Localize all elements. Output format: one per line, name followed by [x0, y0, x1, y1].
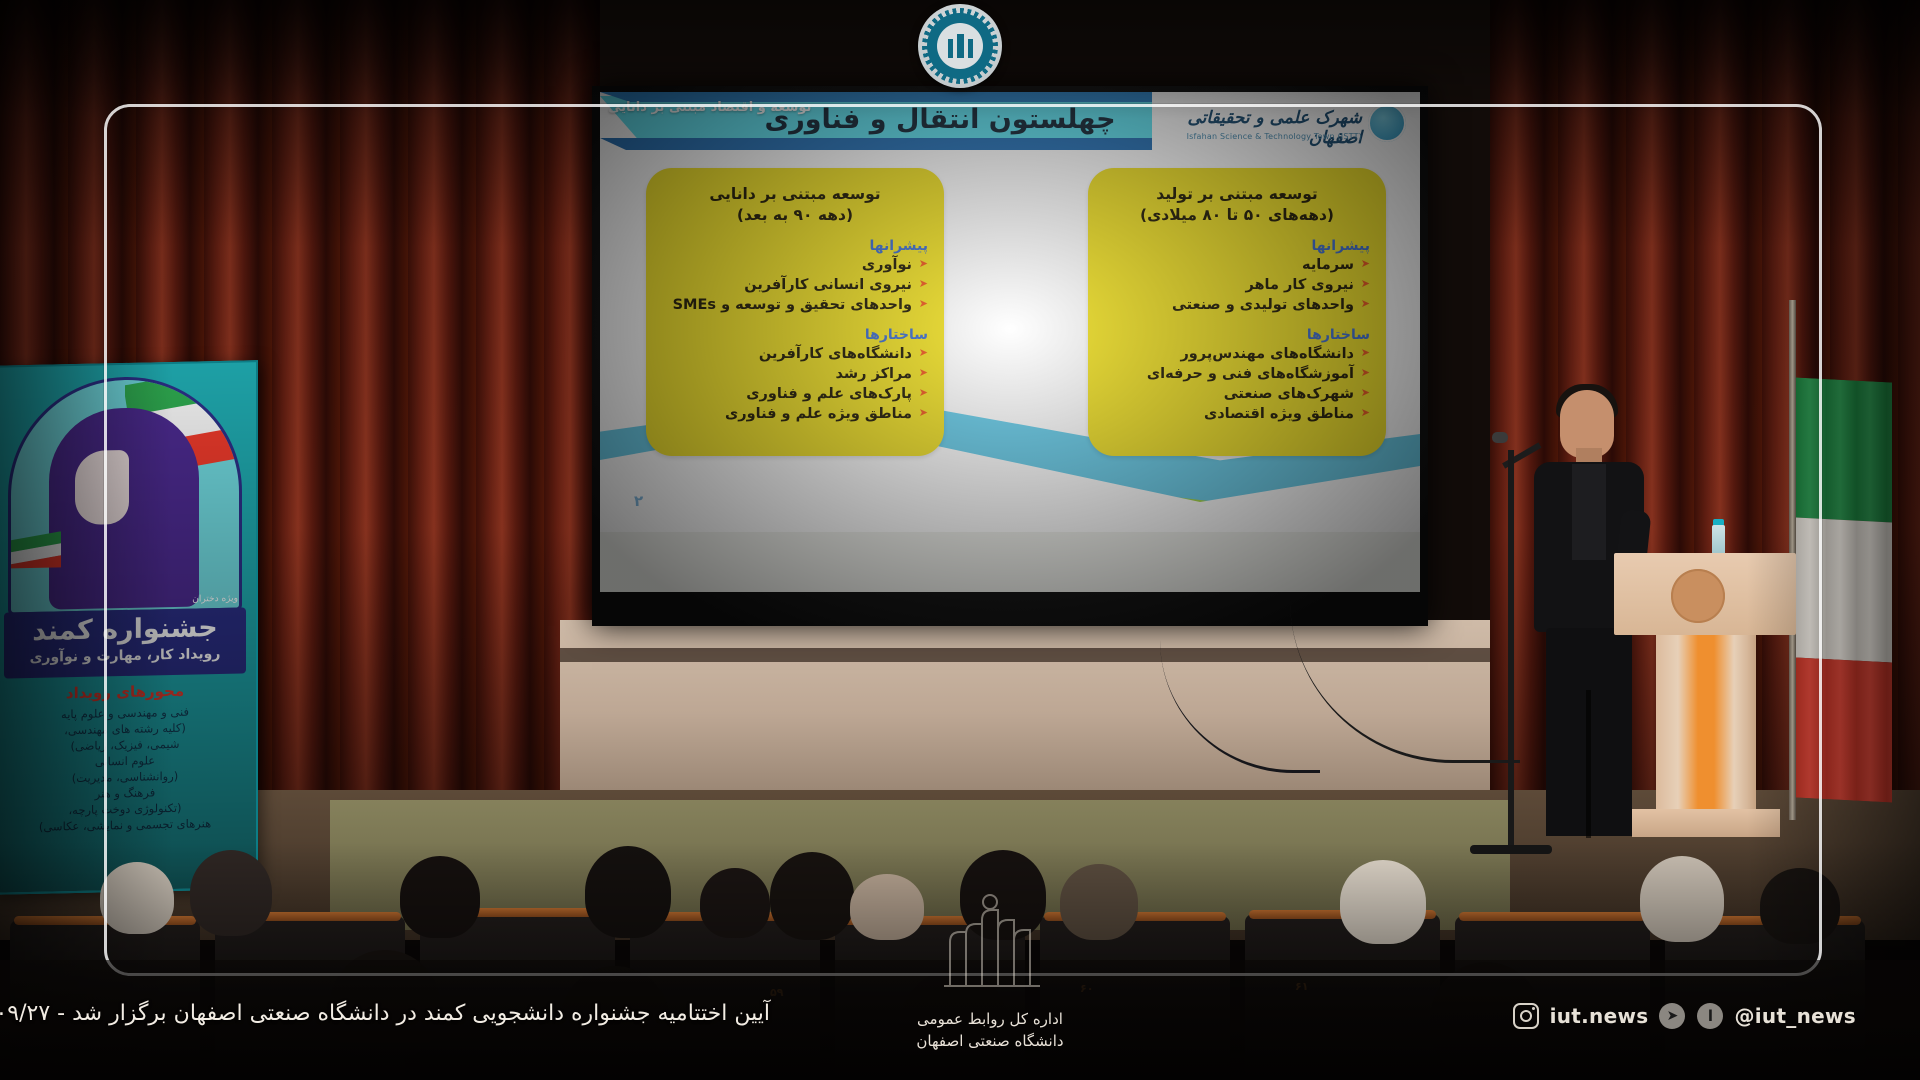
section-list: نوآوری نیروی انسانی کارآفرین واحدهای تحق…	[656, 255, 928, 315]
caption-bar: آیین اختتامیه جشنواره دانشجویی کمند در د…	[0, 960, 1920, 1080]
list-item: نیروی کار ماهر	[1098, 275, 1370, 295]
audience-head	[1340, 860, 1426, 944]
standee-artwork	[8, 375, 242, 616]
standee-title-bar: ویژه دختران جشنواره کمند رویداد کار، مها…	[4, 607, 246, 678]
water-bottle	[1712, 525, 1725, 555]
standee-subtitle: رویداد کار، مهارت و نوآوری	[4, 644, 246, 668]
audience-head	[700, 868, 770, 938]
list-item: دانشگاه‌های کارآفرین	[656, 344, 928, 364]
projection-screen: توسعه و اقتصاد مبتنی بر دانایی چهلستون ا…	[600, 92, 1420, 592]
list-item: پارک‌های علم و فناوری	[656, 384, 928, 404]
standee-title: جشنواره کمند	[4, 610, 246, 649]
instagram-icon[interactable]	[1512, 1002, 1540, 1030]
section-list: سرمایه نیروی کار ماهر واحدهای تولیدی و ص…	[1098, 255, 1370, 315]
list-item: سرمایه	[1098, 255, 1370, 275]
column-icon	[957, 34, 964, 58]
audience-head	[1640, 856, 1724, 942]
messenger-handle[interactable]: @iut_news	[1734, 1004, 1856, 1028]
section-heading: پیشرانها	[1098, 238, 1370, 254]
audience-head	[100, 862, 174, 934]
section-list: دانشگاه‌های کارآفرین مراکز رشد پارک‌های …	[656, 344, 928, 424]
slide-header-title: چهلستون انتقال و فناوری	[660, 100, 1220, 140]
speaker-shirt	[1572, 464, 1606, 560]
slide-box-production: توسعه مبتنی بر تولید (دهه‌های ۵۰ تا ۸۰ م…	[1088, 168, 1386, 456]
microphone-icon	[1492, 432, 1508, 443]
list-item: مناطق ویژه اقتصادی	[1098, 404, 1370, 424]
box-title: توسعه مبتنی بر دانایی (دهه ۹۰ به بعد)	[660, 184, 930, 226]
section-heading: پیشرانها	[656, 238, 928, 254]
slide-box-knowledge: توسعه مبتنی بر دانایی (دهه ۹۰ به بعد) پی…	[646, 168, 944, 456]
audience-head	[585, 846, 671, 938]
list-item: نیروی انسانی کارآفرین	[656, 275, 928, 295]
hijab-figure-silhouette	[49, 406, 199, 609]
figure-face	[75, 450, 129, 525]
iut-seal-inner	[927, 13, 993, 79]
social-handles[interactable]: iut.news ➤ ا @iut_news	[1512, 1002, 1856, 1030]
photo-canvas: توسعه و اقتصاد مبتنی بر دانایی چهلستون ا…	[0, 0, 1920, 1080]
audience-head	[190, 850, 272, 936]
section-heading: ساختارها	[1098, 327, 1370, 343]
event-caption: آیین اختتامیه جشنواره دانشجویی کمند در د…	[0, 1001, 770, 1026]
istt-globe-icon	[1368, 104, 1406, 142]
chair-rim	[1459, 912, 1646, 921]
audience-head	[400, 856, 480, 938]
presentation-slide: توسعه و اقتصاد مبتنی بر دانایی چهلستون ا…	[600, 92, 1420, 532]
section-list: دانشگاه‌های مهندس‌پرور آموزشگاه‌های فنی …	[1098, 344, 1370, 424]
box-section-drivers: پیشرانها نوآوری نیروی انسانی کارآفرین وا…	[656, 238, 928, 315]
podium-university-seal	[1671, 569, 1725, 623]
list-item: مراکز رشد	[656, 364, 928, 384]
audience-head	[770, 852, 854, 940]
eitaa-icon[interactable]: ا	[1696, 1002, 1724, 1030]
podium-top	[1614, 553, 1796, 635]
iut-seal-logo	[918, 4, 1002, 88]
small-flag-ribbon	[8, 531, 61, 568]
podium-column	[1656, 635, 1756, 813]
slide-header: توسعه و اقتصاد مبتنی بر دانایی چهلستون ا…	[600, 92, 1420, 154]
box-title-line2: (دهه ۹۰ به بعد)	[737, 206, 853, 224]
pr-emblem-icon	[910, 890, 1070, 990]
list-item: دانشگاه‌های مهندس‌پرور	[1098, 344, 1370, 364]
instagram-handle[interactable]: iut.news	[1550, 1004, 1649, 1028]
list-item: آموزشگاه‌های فنی و حرفه‌ای	[1098, 364, 1370, 384]
istt-logo-fa: شهرک علمی و تحقیقاتی اصفهان	[1162, 108, 1362, 148]
box-section-structures: ساختارها دانشگاه‌های مهندس‌پرور آموزشگاه…	[1098, 327, 1370, 424]
list-item: نوآوری	[656, 255, 928, 275]
box-title-line1: توسعه مبتنی بر دانایی	[709, 185, 880, 203]
flag-folds	[1796, 377, 1892, 802]
list-item: شهرک‌های صنعتی	[1098, 384, 1370, 404]
pr-line-1: اداره کل روابط عمومی	[880, 1008, 1100, 1030]
box-title: توسعه مبتنی بر تولید (دهه‌های ۵۰ تا ۸۰ م…	[1102, 184, 1372, 226]
list-item: واحدهای تحقیق و توسعه و SMEs	[656, 295, 928, 315]
pr-line-2: دانشگاه صنعتی اصفهان	[880, 1030, 1100, 1052]
box-section-drivers: پیشرانها سرمایه نیروی کار ماهر واحدهای ت…	[1098, 238, 1370, 315]
box-title-line1: توسعه مبتنی بر تولید	[1156, 185, 1317, 203]
list-item: واحدهای تولیدی و صنعتی	[1098, 295, 1370, 315]
telegram-icon[interactable]: ➤	[1658, 1002, 1686, 1030]
section-heading: ساختارها	[656, 327, 928, 343]
slide-page-number: ۲	[634, 492, 643, 510]
standee-axes-heading: محورهای رویداد	[4, 680, 246, 703]
istt-logo-en: Isfahan Science & Technology Town (ISTT)	[1187, 132, 1362, 141]
iut-seal-core	[937, 23, 983, 69]
audience-head	[1760, 868, 1840, 944]
list-item: مناطق ویژه علم و فناوری	[656, 404, 928, 424]
iran-national-flag	[1796, 377, 1892, 802]
public-relations-block: اداره کل روابط عمومی دانشگاه صنعتی اصفها…	[880, 1008, 1100, 1052]
box-title-line2: (دهه‌های ۵۰ تا ۸۰ میلادی)	[1140, 206, 1334, 224]
istt-logo: شهرک علمی و تحقیقاتی اصفهان Isfahan Scie…	[1162, 102, 1412, 154]
audience-head	[1060, 864, 1138, 940]
box-section-structures: ساختارها دانشگاه‌های کارآفرین مراکز رشد …	[656, 327, 928, 424]
standee-eyebrow: ویژه دختران	[192, 594, 238, 605]
